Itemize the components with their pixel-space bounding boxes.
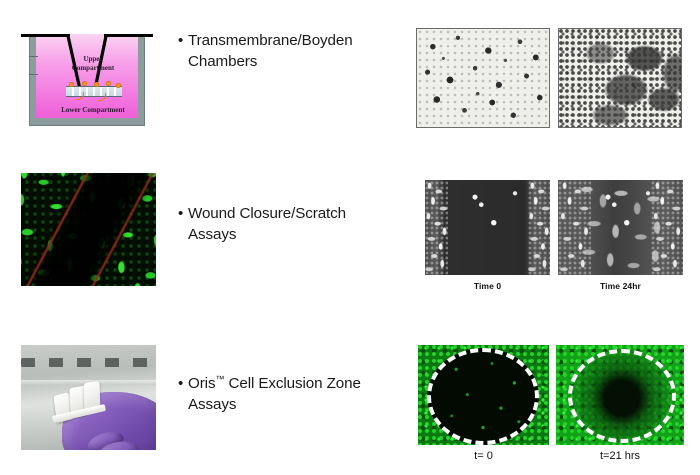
caption-time-0: Time 0 xyxy=(425,281,550,291)
transwell-micrograph-low-density xyxy=(416,28,550,128)
caption-t21: t=21 hrs xyxy=(556,450,684,462)
bullet-label-transmembrane: Transmembrane/Boyden Chambers xyxy=(188,30,393,72)
porous-membrane xyxy=(66,86,122,97)
bullet-transmembrane: • Transmembrane/Boyden Chambers xyxy=(178,30,393,72)
oris-stopper-in-gloved-hand xyxy=(21,345,156,450)
bullet-label-oris: Oris™ Cell Exclusion Zone Assays xyxy=(188,373,393,415)
exclusion-zone-outline-icon xyxy=(568,349,676,443)
scratch-phase-contrast-time-0 xyxy=(425,180,550,275)
lower-compartment-label: Lower Compartment xyxy=(46,106,140,115)
cell-marker xyxy=(94,82,99,87)
bullet-marker-icon: • xyxy=(178,30,188,51)
cell-marker xyxy=(82,81,87,86)
cell-marker xyxy=(116,83,121,88)
cell-marker xyxy=(69,82,74,87)
bullet-label-wound-closure: Wound Closure/Scratch Assays xyxy=(188,203,393,245)
scratch-phase-contrast-time-24hr xyxy=(558,180,683,275)
cell-marker xyxy=(106,81,111,86)
oris-exclusion-zone-t21 xyxy=(556,345,684,445)
bullet-marker-icon: • xyxy=(178,203,188,224)
slide-canvas: Upper Compartment Lower Compartment • Tr… xyxy=(0,0,700,475)
caption-t0: t= 0 xyxy=(418,450,549,462)
caption-time-24hr: Time 24hr xyxy=(558,281,683,291)
exclusion-zone-outline-icon xyxy=(427,348,539,445)
bullet-wound-closure: • Wound Closure/Scratch Assays xyxy=(178,203,393,245)
upper-compartment-label: Upper Compartment xyxy=(64,55,122,72)
transwell-micrograph-high-density xyxy=(558,28,682,128)
boyden-chamber-diagram: Upper Compartment Lower Compartment xyxy=(18,26,156,128)
fluorescent-scratch-assay xyxy=(21,173,156,286)
oris-exclusion-zone-t0 xyxy=(418,345,549,445)
bullet-marker-icon: • xyxy=(178,373,188,394)
brand-name: Oris xyxy=(188,375,215,392)
bullet-oris: • Oris™ Cell Exclusion Zone Assays xyxy=(178,373,393,415)
